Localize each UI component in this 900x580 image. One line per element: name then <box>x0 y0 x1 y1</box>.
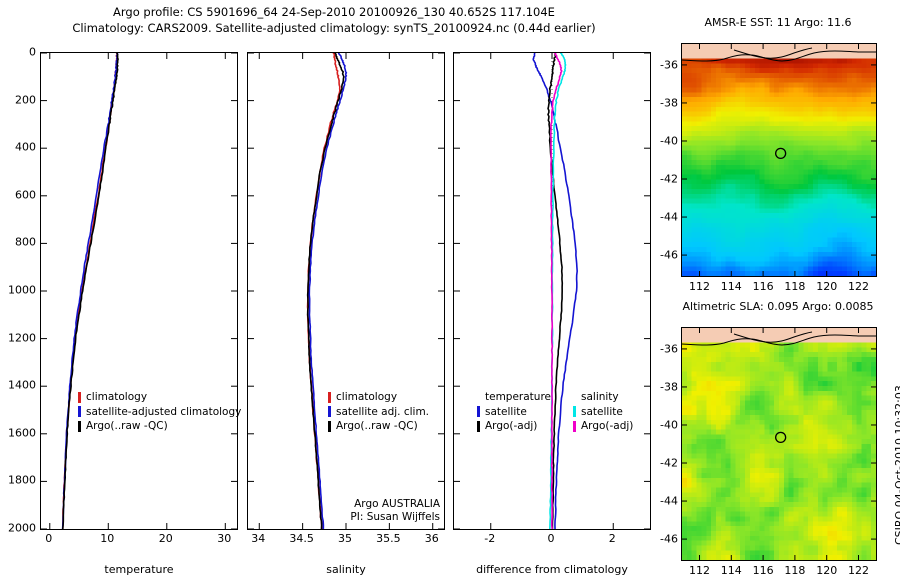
panel-temperature[interactable] <box>40 52 238 530</box>
map-xtick-label: 116 <box>753 564 774 577</box>
xtick-label: 34.5 <box>289 532 314 545</box>
legend-difference-salinity: salinity satellite Argo(-adj) <box>573 390 633 434</box>
map-ytick-label: -46 <box>651 249 678 262</box>
map-ytick-label: -36 <box>651 58 678 71</box>
xaxis-label-salinity: salinity <box>247 563 445 576</box>
xtick-label: 10 <box>100 532 114 545</box>
legend-item: Argo(..raw -QC) <box>78 419 241 434</box>
map-xtick-label: 118 <box>784 280 805 293</box>
legend-header: salinity <box>573 390 633 405</box>
swatch-blank-icon <box>477 392 480 403</box>
swatch-satellite-icon <box>328 406 331 417</box>
swatch-argo-icon <box>477 421 480 432</box>
xaxis-label-difference: difference from climatology <box>453 563 651 576</box>
swatch-satellite-icon <box>78 406 81 417</box>
swatch-climatology-icon <box>328 392 331 403</box>
map-ytick-label: -40 <box>651 134 678 147</box>
map-xtick-label: 114 <box>721 280 742 293</box>
map-ytick-label: -44 <box>651 211 678 224</box>
ytick-label: 1400 <box>2 379 36 392</box>
legend-label: satellite adj. clim. <box>336 405 429 420</box>
swatch-argo-icon <box>78 421 81 432</box>
xtick-label: 30 <box>217 532 231 545</box>
ytick-label: 0 <box>2 46 36 59</box>
ytick-label: 400 <box>2 141 36 154</box>
xtick-label: 2 <box>609 532 616 545</box>
map-ytick-label: -46 <box>651 533 678 546</box>
map-xtick-label: 118 <box>784 564 805 577</box>
title-line-1: Argo profile: CS 5901696_64 24-Sep-2010 … <box>0 4 668 20</box>
legend-difference-temperature: temperature satellite Argo(-adj) <box>477 390 551 434</box>
swatch-blank-icon <box>573 392 576 403</box>
map-xtick-label: 112 <box>689 280 710 293</box>
csiro-timestamp: CSIRO 04-Oct-2010 10:32:03 <box>893 385 900 545</box>
map-ytick-label: -38 <box>651 96 678 109</box>
legend-temperature: climatology satellite-adjusted climatolo… <box>78 390 241 434</box>
legend-label: satellite <box>485 405 527 420</box>
difference-plot-area <box>454 53 650 529</box>
ytick-label: 600 <box>2 188 36 201</box>
legend-item: satellite-adjusted climatology <box>78 405 241 420</box>
map-xtick-label: 112 <box>689 564 710 577</box>
legend-item: climatology <box>78 390 241 405</box>
xtick-label: 0 <box>45 532 52 545</box>
xtick-label: 35 <box>338 532 352 545</box>
map-sla[interactable] <box>681 327 877 561</box>
xtick-label: -2 <box>484 532 495 545</box>
legend-salinity: climatology satellite adj. clim. Argo(..… <box>328 390 429 434</box>
legend-label: climatology <box>86 390 147 405</box>
legend-label: Argo(-adj) <box>581 419 633 434</box>
xtick-label: 34 <box>251 532 265 545</box>
swatch-argo-icon <box>328 421 331 432</box>
legend-label: satellite-adjusted climatology <box>86 405 241 420</box>
legend-label: Argo(..raw -QC) <box>336 419 418 434</box>
legend-header: temperature <box>477 390 551 405</box>
ytick-label: 1000 <box>2 284 36 297</box>
panel-salinity[interactable] <box>247 52 445 530</box>
map-xtick-label: 120 <box>816 564 837 577</box>
ytick-label: 1200 <box>2 331 36 344</box>
salinity-plot-area <box>248 53 444 529</box>
sla-map-area <box>682 328 876 560</box>
map-ytick-label: -44 <box>651 495 678 508</box>
map-sst[interactable] <box>681 43 877 277</box>
legend-label: Argo(-adj) <box>485 419 537 434</box>
xtick-label: 0 <box>548 532 555 545</box>
legend-item: climatology <box>328 390 429 405</box>
map-xtick-label: 120 <box>816 280 837 293</box>
map-ytick-label: -36 <box>651 342 678 355</box>
map-title-sst: AMSR-E SST: 11 Argo: 11.6 <box>668 16 888 29</box>
credit-block: Argo AUSTRALIA PI: Susan Wijffels <box>295 498 440 524</box>
title-line-2: Climatology: CARS2009. Satellite-adjuste… <box>0 20 668 36</box>
legend-item: Argo(..raw -QC) <box>328 419 429 434</box>
xtick-label: 20 <box>159 532 173 545</box>
legend-item: satellite adj. clim. <box>328 405 429 420</box>
legend-label: temperature <box>485 390 551 405</box>
xtick-label: 36 <box>425 532 439 545</box>
figure-title: Argo profile: CS 5901696_64 24-Sep-2010 … <box>0 4 668 36</box>
ytick-label: 2000 <box>2 522 36 535</box>
swatch-satellite-icon <box>477 406 480 417</box>
temperature-plot-area <box>41 53 237 529</box>
legend-item: Argo(-adj) <box>477 419 551 434</box>
swatch-climatology-icon <box>78 392 81 403</box>
sst-map-area <box>682 44 876 276</box>
ytick-label: 1600 <box>2 426 36 439</box>
legend-label: Argo(..raw -QC) <box>86 419 168 434</box>
map-xtick-label: 116 <box>753 280 774 293</box>
map-xtick-label: 122 <box>848 280 869 293</box>
xtick-label: 35.5 <box>376 532 401 545</box>
ytick-label: 1800 <box>2 474 36 487</box>
ytick-label: 200 <box>2 93 36 106</box>
map-ytick-label: -42 <box>651 173 678 186</box>
map-title-sla: Altimetric SLA: 0.095 Argo: 0.0085 <box>668 300 888 313</box>
legend-item: Argo(-adj) <box>573 419 633 434</box>
credit-line-2: PI: Susan Wijffels <box>295 511 440 524</box>
xaxis-label-temperature: temperature <box>40 563 238 576</box>
map-ytick-label: -42 <box>651 457 678 470</box>
legend-item: satellite <box>477 405 551 420</box>
panel-difference[interactable] <box>453 52 651 530</box>
legend-label: salinity <box>581 390 619 405</box>
legend-item: satellite <box>573 405 633 420</box>
map-ytick-label: -38 <box>651 380 678 393</box>
map-xtick-label: 122 <box>848 564 869 577</box>
credit-line-1: Argo AUSTRALIA <box>295 498 440 511</box>
map-ytick-label: -40 <box>651 418 678 431</box>
swatch-salinity-satellite-icon <box>573 406 576 417</box>
ytick-label: 800 <box>2 236 36 249</box>
map-xtick-label: 114 <box>721 564 742 577</box>
swatch-salinity-argo-icon <box>573 421 576 432</box>
legend-label: satellite <box>581 405 623 420</box>
legend-label: climatology <box>336 390 397 405</box>
